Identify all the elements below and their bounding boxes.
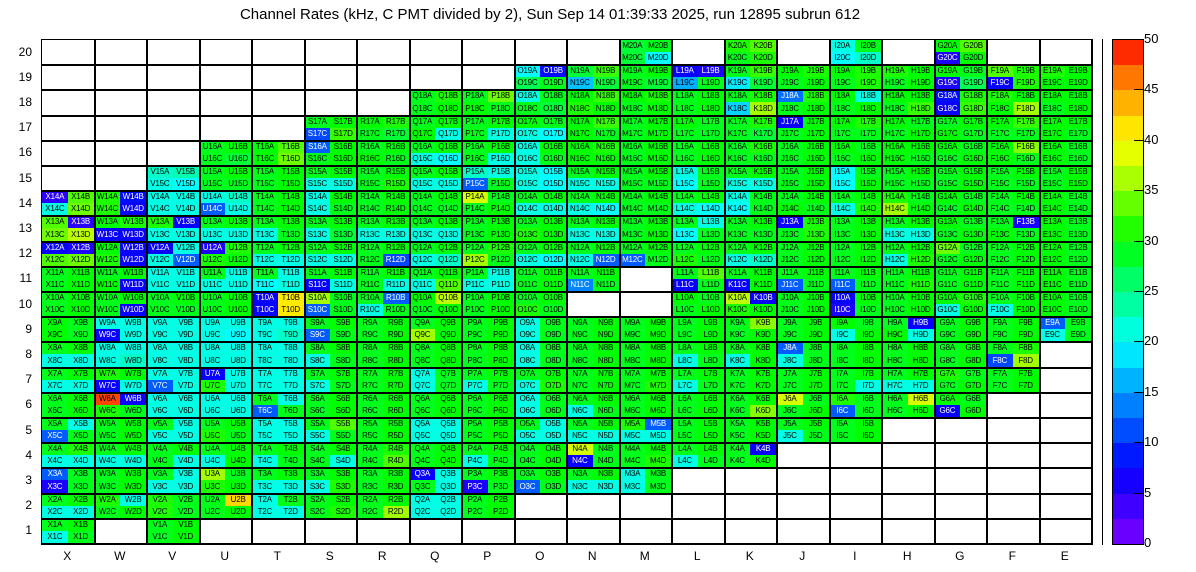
- channel-quadrant[interactable]: H14B: [908, 191, 934, 203]
- heatmap-cell[interactable]: I14AI14BI14CI14D: [830, 191, 883, 216]
- heatmap-cell[interactable]: V1AV1BV1CV1D: [147, 519, 200, 544]
- heatmap-cell[interactable]: I15AI15BI15CI15D: [830, 166, 883, 191]
- channel-quadrant[interactable]: H16B: [908, 141, 934, 153]
- channel-quadrant[interactable]: V12D: [173, 254, 199, 266]
- channel-quadrant[interactable]: H12A: [882, 242, 908, 254]
- channel-quadrant[interactable]: P14A: [462, 191, 488, 203]
- channel-quadrant[interactable]: Q15B: [435, 166, 461, 178]
- channel-quadrant[interactable]: P6C: [462, 405, 488, 417]
- heatmap-cell[interactable]: O5AO5BO5CO5D: [515, 418, 568, 443]
- heatmap-cell[interactable]: H6AH6BH6CH6D: [882, 393, 935, 418]
- channel-quadrant[interactable]: S12D: [330, 254, 356, 266]
- heatmap-cell[interactable]: M7AM7BM7CM7D: [620, 368, 673, 393]
- channel-quadrant[interactable]: U5A: [200, 418, 226, 430]
- channel-quadrant[interactable]: F8B: [1013, 342, 1039, 354]
- channel-quadrant[interactable]: X8D: [68, 354, 94, 366]
- heatmap-cell[interactable]: T10AT10BT10CT10D: [252, 292, 305, 317]
- channel-quadrant[interactable]: W3A: [95, 468, 121, 480]
- channel-quadrant[interactable]: R5B: [383, 418, 409, 430]
- heatmap-cell[interactable]: J19AJ19BJ19CJ19D: [777, 65, 830, 90]
- channel-quadrant[interactable]: I19A: [830, 65, 856, 77]
- channel-quadrant[interactable]: R15A: [357, 166, 383, 178]
- channel-quadrant[interactable]: U15D: [225, 178, 251, 190]
- heatmap-cell[interactable]: G13AG13BG13CG13D: [935, 216, 988, 241]
- heatmap-cell[interactable]: X8AX8BX8CX8D: [42, 342, 95, 367]
- channel-quadrant[interactable]: K10B: [750, 292, 776, 304]
- channel-quadrant[interactable]: U10D: [225, 304, 251, 316]
- channel-quadrant[interactable]: S3A: [305, 468, 331, 480]
- heatmap-cell[interactable]: E16AE16BE16CE16D: [1040, 141, 1093, 166]
- heatmap-cell[interactable]: Q5AQ5BQ5CQ5D: [410, 418, 463, 443]
- heatmap-cell[interactable]: F16AF16BF16CF16D: [987, 141, 1040, 166]
- channel-quadrant[interactable]: W14A: [95, 191, 121, 203]
- heatmap-cell[interactable]: X12AX12BX12CX12D: [42, 242, 95, 267]
- channel-quadrant[interactable]: U10B: [225, 292, 251, 304]
- channel-quadrant[interactable]: S2B: [330, 494, 356, 506]
- heatmap-cell[interactable]: O12AO12BO12CO12D: [515, 242, 568, 267]
- channel-quadrant[interactable]: R11D: [383, 279, 409, 291]
- channel-quadrant[interactable]: F19C: [987, 77, 1013, 89]
- channel-quadrant[interactable]: F8D: [1013, 354, 1039, 366]
- heatmap-cell[interactable]: J8AJ8BJ8CJ8D: [777, 342, 830, 367]
- channel-quadrant[interactable]: X1D: [68, 531, 94, 543]
- heatmap-cell[interactable]: U7AU7BU7CU7D: [200, 368, 253, 393]
- channel-quadrant[interactable]: T6B: [278, 393, 304, 405]
- heatmap-cell[interactable]: U4AU4BU4CU4D: [200, 443, 253, 468]
- channel-quadrant[interactable]: S5A: [305, 418, 331, 430]
- channel-quadrant[interactable]: H10B: [908, 292, 934, 304]
- channel-quadrant[interactable]: V4D: [173, 455, 199, 467]
- channel-quadrant[interactable]: I12B: [855, 242, 881, 254]
- channel-quadrant[interactable]: Q5B: [435, 418, 461, 430]
- channel-quadrant[interactable]: E9C: [1040, 329, 1066, 341]
- heatmap-cell[interactable]: Q3AQ3BQ3CQ3D: [410, 468, 463, 493]
- channel-quadrant[interactable]: P4B: [488, 443, 514, 455]
- channel-quadrant[interactable]: T6C: [252, 405, 278, 417]
- channel-quadrant[interactable]: I5A: [830, 418, 856, 430]
- channel-quadrant[interactable]: O16D: [540, 153, 566, 165]
- channel-quadrant[interactable]: L13C: [672, 228, 698, 240]
- channel-quadrant[interactable]: U10C: [200, 304, 226, 316]
- channel-quadrant[interactable]: W4C: [95, 455, 121, 467]
- channel-quadrant[interactable]: N4B: [593, 443, 619, 455]
- channel-quadrant[interactable]: J18C: [777, 102, 803, 114]
- channel-quadrant[interactable]: P11D: [488, 279, 514, 291]
- channel-quadrant[interactable]: T3A: [252, 468, 278, 480]
- channel-quadrant[interactable]: V13A: [147, 216, 173, 228]
- channel-quadrant[interactable]: M17C: [620, 128, 646, 140]
- channel-quadrant[interactable]: F10C: [987, 304, 1013, 316]
- channel-quadrant[interactable]: U7B: [225, 368, 251, 380]
- channel-quadrant[interactable]: Q17A: [410, 116, 436, 128]
- channel-quadrant[interactable]: T12B: [278, 242, 304, 254]
- channel-quadrant[interactable]: J19D: [803, 77, 829, 89]
- channel-quadrant[interactable]: R2B: [383, 494, 409, 506]
- channel-quadrant[interactable]: S11D: [330, 279, 356, 291]
- channel-quadrant[interactable]: M16B: [645, 141, 671, 153]
- channel-quadrant[interactable]: I19C: [830, 77, 856, 89]
- channel-quadrant[interactable]: U4C: [200, 455, 226, 467]
- channel-quadrant[interactable]: R16B: [383, 141, 409, 153]
- channel-quadrant[interactable]: N13A: [567, 216, 593, 228]
- channel-quadrant[interactable]: E16D: [1065, 153, 1091, 165]
- channel-quadrant[interactable]: W11C: [95, 279, 121, 291]
- heatmap-cell[interactable]: T5AT5BT5CT5D: [252, 418, 305, 443]
- channel-quadrant[interactable]: R10B: [383, 292, 409, 304]
- channel-quadrant[interactable]: W4D: [120, 455, 146, 467]
- heatmap-cell[interactable]: N16AN16BN16CN16D: [567, 141, 620, 166]
- channel-quadrant[interactable]: P10B: [488, 292, 514, 304]
- channel-quadrant[interactable]: T13D: [278, 228, 304, 240]
- channel-quadrant[interactable]: I11D: [855, 279, 881, 291]
- channel-quadrant[interactable]: W13A: [95, 216, 121, 228]
- channel-quadrant[interactable]: X1B: [68, 519, 94, 531]
- channel-quadrant[interactable]: L9A: [672, 317, 698, 329]
- channel-quadrant[interactable]: R3A: [357, 468, 383, 480]
- channel-quadrant[interactable]: U4A: [200, 443, 226, 455]
- channel-quadrant[interactable]: I5D: [855, 430, 881, 442]
- channel-quadrant[interactable]: G16A: [935, 141, 961, 153]
- heatmap-cell[interactable]: Q8AQ8BQ8CQ8D: [410, 342, 463, 367]
- channel-quadrant[interactable]: N4C: [567, 455, 593, 467]
- channel-quadrant[interactable]: U15C: [200, 178, 226, 190]
- channel-quadrant[interactable]: F17A: [987, 116, 1013, 128]
- heatmap-cell[interactable]: V2AV2BV2CV2D: [147, 494, 200, 519]
- heatmap-cell[interactable]: Q12AQ12BQ12CQ12D: [410, 242, 463, 267]
- channel-quadrant[interactable]: F10A: [987, 292, 1013, 304]
- heatmap-cell[interactable]: T7AT7BT7CT7D: [252, 368, 305, 393]
- channel-quadrant[interactable]: O18A: [515, 90, 541, 102]
- channel-quadrant[interactable]: L17A: [672, 116, 698, 128]
- channel-quadrant[interactable]: O12D: [540, 254, 566, 266]
- heatmap-cell[interactable]: G14AG14BG14CG14D: [935, 191, 988, 216]
- channel-quadrant[interactable]: L5C: [672, 430, 698, 442]
- heatmap-cell[interactable]: X6AX6BX6CX6D: [42, 393, 95, 418]
- channel-quadrant[interactable]: H18C: [882, 102, 908, 114]
- channel-quadrant[interactable]: X13D: [68, 228, 94, 240]
- channel-quadrant[interactable]: G12A: [935, 242, 961, 254]
- channel-quadrant[interactable]: U14B: [225, 191, 251, 203]
- channel-quadrant[interactable]: K5A: [725, 418, 751, 430]
- heatmap-cell[interactable]: W12AW12BW12CW12D: [95, 242, 148, 267]
- channel-quadrant[interactable]: N8A: [567, 342, 593, 354]
- channel-quadrant[interactable]: E18D: [1065, 102, 1091, 114]
- channel-quadrant[interactable]: M17A: [620, 116, 646, 128]
- channel-quadrant[interactable]: F13C: [987, 228, 1013, 240]
- channel-quadrant[interactable]: P8B: [488, 342, 514, 354]
- channel-quadrant[interactable]: N4A: [567, 443, 593, 455]
- channel-quadrant[interactable]: S10D: [330, 304, 356, 316]
- heatmap-cell[interactable]: J7AJ7BJ7CJ7D: [777, 368, 830, 393]
- channel-quadrant[interactable]: S3C: [305, 480, 331, 492]
- channel-quadrant[interactable]: W6B: [120, 393, 146, 405]
- channel-quadrant[interactable]: N4D: [593, 455, 619, 467]
- heatmap-cell[interactable]: K13AK13BK13CK13D: [725, 216, 778, 241]
- channel-quadrant[interactable]: H9B: [908, 317, 934, 329]
- channel-quadrant[interactable]: H17A: [882, 116, 908, 128]
- channel-quadrant[interactable]: T16C: [252, 153, 278, 165]
- channel-quadrant[interactable]: X12A: [42, 242, 68, 254]
- channel-quadrant[interactable]: P13A: [462, 216, 488, 228]
- channel-quadrant[interactable]: R4B: [383, 443, 409, 455]
- channel-quadrant[interactable]: W6A: [95, 393, 121, 405]
- channel-quadrant[interactable]: E19C: [1040, 77, 1066, 89]
- channel-quadrant[interactable]: L11C: [672, 279, 698, 291]
- channel-quadrant[interactable]: M7A: [620, 368, 646, 380]
- channel-quadrant[interactable]: L6D: [698, 405, 724, 417]
- channel-quadrant[interactable]: X3A: [42, 468, 68, 480]
- channel-quadrant[interactable]: K7D: [750, 380, 776, 392]
- channel-quadrant[interactable]: V10A: [147, 292, 173, 304]
- channel-quadrant[interactable]: X9D: [68, 329, 94, 341]
- channel-quadrant[interactable]: Q4A: [410, 443, 436, 455]
- channel-quadrant[interactable]: F7A: [987, 368, 1013, 380]
- channel-quadrant[interactable]: M13D: [645, 228, 671, 240]
- channel-quadrant[interactable]: L14B: [698, 191, 724, 203]
- heatmap-cell[interactable]: S15AS15BS15CS15D: [305, 166, 358, 191]
- channel-quadrant[interactable]: K10A: [725, 292, 751, 304]
- channel-quadrant[interactable]: I11C: [830, 279, 856, 291]
- channel-quadrant[interactable]: V11B: [173, 267, 199, 279]
- channel-quadrant[interactable]: T4A: [252, 443, 278, 455]
- heatmap-cell[interactable]: H14AH14BH14CH14D: [882, 191, 935, 216]
- channel-quadrant[interactable]: L19A: [672, 65, 698, 77]
- channel-quadrant[interactable]: L9C: [672, 329, 698, 341]
- heatmap-cell[interactable]: P16AP16BP16CP16D: [462, 141, 515, 166]
- heatmap-cell[interactable]: E18AE18BE18CE18D: [1040, 90, 1093, 115]
- channel-quadrant[interactable]: E13A: [1040, 216, 1066, 228]
- channel-quadrant[interactable]: J19B: [803, 65, 829, 77]
- channel-quadrant[interactable]: O11D: [540, 279, 566, 291]
- channel-quadrant[interactable]: V2C: [147, 506, 173, 518]
- channel-quadrant[interactable]: R17B: [383, 116, 409, 128]
- channel-quadrant[interactable]: F17D: [1013, 128, 1039, 140]
- channel-quadrant[interactable]: L10D: [698, 304, 724, 316]
- heatmap-cell[interactable]: I6AI6BI6CI6D: [830, 393, 883, 418]
- channel-quadrant[interactable]: G10D: [960, 304, 986, 316]
- channel-quadrant[interactable]: E11D: [1065, 279, 1091, 291]
- channel-quadrant[interactable]: L4D: [698, 455, 724, 467]
- channel-quadrant[interactable]: R16A: [357, 141, 383, 153]
- channel-quadrant[interactable]: T2C: [252, 506, 278, 518]
- channel-quadrant[interactable]: P14B: [488, 191, 514, 203]
- heatmap-cell[interactable]: K8AK8BK8CK8D: [725, 342, 778, 367]
- heatmap-cell[interactable]: R13AR13BR13CR13D: [357, 216, 410, 241]
- heatmap-cell[interactable]: I7AI7BI7CI7D: [830, 368, 883, 393]
- channel-quadrant[interactable]: W14C: [95, 203, 121, 215]
- channel-quadrant[interactable]: M4D: [645, 455, 671, 467]
- heatmap-cell[interactable]: M19AM19BM19CM19D: [620, 65, 673, 90]
- channel-quadrant[interactable]: M19B: [645, 65, 671, 77]
- channel-quadrant[interactable]: G17C: [935, 128, 961, 140]
- channel-quadrant[interactable]: H6D: [908, 405, 934, 417]
- heatmap-cell[interactable]: V5AV5BV5CV5D: [147, 418, 200, 443]
- channel-quadrant[interactable]: L5B: [698, 418, 724, 430]
- channel-quadrant[interactable]: Q4C: [410, 455, 436, 467]
- channel-quadrant[interactable]: Q13B: [435, 216, 461, 228]
- channel-quadrant[interactable]: X14C: [42, 203, 68, 215]
- channel-quadrant[interactable]: F13D: [1013, 228, 1039, 240]
- channel-quadrant[interactable]: Q12D: [435, 254, 461, 266]
- heatmap-cell[interactable]: H7AH7BH7CH7D: [882, 368, 935, 393]
- channel-quadrant[interactable]: F18C: [987, 102, 1013, 114]
- channel-quadrant[interactable]: P6B: [488, 393, 514, 405]
- channel-quadrant[interactable]: V7D: [173, 380, 199, 392]
- channel-quadrant[interactable]: S6C: [305, 405, 331, 417]
- heatmap-cell[interactable]: R9AR9BR9CR9D: [357, 317, 410, 342]
- channel-quadrant[interactable]: Q8C: [410, 354, 436, 366]
- channel-quadrant[interactable]: H12D: [908, 254, 934, 266]
- channel-quadrant[interactable]: N18C: [567, 102, 593, 114]
- channel-quadrant[interactable]: G8A: [935, 342, 961, 354]
- heatmap-cell[interactable]: S12AS12BS12CS12D: [305, 242, 358, 267]
- channel-quadrant[interactable]: U16A: [200, 141, 226, 153]
- channel-quadrant[interactable]: I10D: [855, 304, 881, 316]
- channel-quadrant[interactable]: M8C: [620, 354, 646, 366]
- channel-quadrant[interactable]: X7C: [42, 380, 68, 392]
- channel-quadrant[interactable]: V10B: [173, 292, 199, 304]
- channel-quadrant[interactable]: I14C: [830, 203, 856, 215]
- channel-quadrant[interactable]: E17C: [1040, 128, 1066, 140]
- channel-quadrant[interactable]: W14B: [120, 191, 146, 203]
- channel-quadrant[interactable]: R12A: [357, 242, 383, 254]
- channel-quadrant[interactable]: R10D: [383, 304, 409, 316]
- heatmap-cell[interactable]: W11AW11BW11CW11D: [95, 267, 148, 292]
- channel-quadrant[interactable]: U6A: [200, 393, 226, 405]
- channel-quadrant[interactable]: K9B: [750, 317, 776, 329]
- channel-quadrant[interactable]: I12A: [830, 242, 856, 254]
- channel-quadrant[interactable]: P16B: [488, 141, 514, 153]
- heatmap-cell[interactable]: N4AN4BN4CN4D: [567, 443, 620, 468]
- channel-quadrant[interactable]: X9B: [68, 317, 94, 329]
- channel-quadrant[interactable]: I14A: [830, 191, 856, 203]
- channel-quadrant[interactable]: M8A: [620, 342, 646, 354]
- channel-quadrant[interactable]: V3C: [147, 480, 173, 492]
- channel-quadrant[interactable]: F15B: [1013, 166, 1039, 178]
- channel-quadrant[interactable]: S13C: [305, 228, 331, 240]
- channel-quadrant[interactable]: R16D: [383, 153, 409, 165]
- channel-quadrant[interactable]: Q13D: [435, 228, 461, 240]
- channel-quadrant[interactable]: I7B: [855, 368, 881, 380]
- heatmap-cell[interactable]: Q9AQ9BQ9CQ9D: [410, 317, 463, 342]
- channel-quadrant[interactable]: J12C: [777, 254, 803, 266]
- channel-quadrant[interactable]: N14B: [593, 191, 619, 203]
- channel-quadrant[interactable]: F13A: [987, 216, 1013, 228]
- channel-quadrant[interactable]: O11C: [515, 279, 541, 291]
- channel-quadrant[interactable]: G9D: [960, 329, 986, 341]
- heatmap-cell[interactable]: M15AM15BM15CM15D: [620, 166, 673, 191]
- channel-quadrant[interactable]: X2B: [68, 494, 94, 506]
- heatmap-cell[interactable]: T3AT3BT3CT3D: [252, 468, 305, 493]
- channel-quadrant[interactable]: O16A: [515, 141, 541, 153]
- channel-quadrant[interactable]: N15A: [567, 166, 593, 178]
- channel-quadrant[interactable]: J14B: [803, 191, 829, 203]
- heatmap-cell[interactable]: V11AV11BV11CV11D: [147, 267, 200, 292]
- heatmap-cell[interactable]: S8AS8BS8CS8D: [305, 342, 358, 367]
- channel-quadrant[interactable]: J15B: [803, 166, 829, 178]
- channel-quadrant[interactable]: E16C: [1040, 153, 1066, 165]
- channel-quadrant[interactable]: X3C: [42, 480, 68, 492]
- channel-quadrant[interactable]: I13C: [830, 228, 856, 240]
- channel-quadrant[interactable]: K6A: [725, 393, 751, 405]
- channel-quadrant[interactable]: N5D: [593, 430, 619, 442]
- channel-quadrant[interactable]: O17D: [540, 128, 566, 140]
- channel-quadrant[interactable]: W11A: [95, 267, 121, 279]
- heatmap-cell[interactable]: K14AK14BK14CK14D: [725, 191, 778, 216]
- channel-quadrant[interactable]: T13C: [252, 228, 278, 240]
- heatmap-cell[interactable]: O4AO4BO4CO4D: [515, 443, 568, 468]
- channel-quadrant[interactable]: F19D: [1013, 77, 1039, 89]
- channel-quadrant[interactable]: S7A: [305, 368, 331, 380]
- channel-quadrant[interactable]: S7D: [330, 380, 356, 392]
- channel-quadrant[interactable]: T14A: [252, 191, 278, 203]
- channel-quadrant[interactable]: V8B: [173, 342, 199, 354]
- heatmap-cell[interactable]: G6AG6BG6CG6D: [935, 393, 988, 418]
- channel-quadrant[interactable]: O7D: [540, 380, 566, 392]
- channel-quadrant[interactable]: K8D: [750, 354, 776, 366]
- channel-quadrant[interactable]: N3D: [593, 480, 619, 492]
- channel-quadrant[interactable]: W4B: [120, 443, 146, 455]
- channel-quadrant[interactable]: G7C: [935, 380, 961, 392]
- channel-quadrant[interactable]: Q6D: [435, 405, 461, 417]
- channel-quadrant[interactable]: H13C: [882, 228, 908, 240]
- channel-quadrant[interactable]: H7C: [882, 380, 908, 392]
- heatmap-cell[interactable]: L4AL4BL4CL4D: [672, 443, 725, 468]
- channel-quadrant[interactable]: L16B: [698, 141, 724, 153]
- heatmap-cell[interactable]: V14AV14BV14CV14D: [147, 191, 200, 216]
- heatmap-cell[interactable]: P8AP8BP8CP8D: [462, 342, 515, 367]
- channel-quadrant[interactable]: R9B: [383, 317, 409, 329]
- channel-quadrant[interactable]: X3B: [68, 468, 94, 480]
- channel-quadrant[interactable]: V2B: [173, 494, 199, 506]
- channel-quadrant[interactable]: F7B: [1013, 368, 1039, 380]
- channel-quadrant[interactable]: R7B: [383, 368, 409, 380]
- channel-quadrant[interactable]: O12A: [515, 242, 541, 254]
- channel-quadrant[interactable]: M20D: [645, 52, 671, 64]
- channel-quadrant[interactable]: R6B: [383, 393, 409, 405]
- channel-quadrant[interactable]: W7D: [120, 380, 146, 392]
- channel-quadrant[interactable]: G16B: [960, 141, 986, 153]
- channel-quadrant[interactable]: F11C: [987, 279, 1013, 291]
- channel-quadrant[interactable]: P5D: [488, 430, 514, 442]
- channel-quadrant[interactable]: T12D: [278, 254, 304, 266]
- heatmap-cell[interactable]: T16AT16BT16CT16D: [252, 141, 305, 166]
- channel-quadrant[interactable]: K18B: [750, 90, 776, 102]
- channel-quadrant[interactable]: V14D: [173, 203, 199, 215]
- heatmap-cell[interactable]: U9AU9BU9CU9D: [200, 317, 253, 342]
- channel-quadrant[interactable]: R8C: [357, 354, 383, 366]
- channel-quadrant[interactable]: J12A: [777, 242, 803, 254]
- channel-quadrant[interactable]: Q11C: [410, 279, 436, 291]
- channel-quadrant[interactable]: F9C: [987, 329, 1013, 341]
- channel-quadrant[interactable]: M9A: [620, 317, 646, 329]
- heatmap-cell[interactable]: H12AH12BH12CH12D: [882, 242, 935, 267]
- channel-quadrant[interactable]: T16D: [278, 153, 304, 165]
- channel-quadrant[interactable]: G14A: [935, 191, 961, 203]
- channel-quadrant[interactable]: T2D: [278, 506, 304, 518]
- channel-quadrant[interactable]: H9C: [882, 329, 908, 341]
- channel-quadrant[interactable]: N9D: [593, 329, 619, 341]
- channel-quadrant[interactable]: L19C: [672, 77, 698, 89]
- heatmap-cell[interactable]: O19AO19BO19CO19D: [515, 65, 568, 90]
- heatmap-cell[interactable]: W10AW10BW10CW10D: [95, 292, 148, 317]
- channel-quadrant[interactable]: M7D: [645, 380, 671, 392]
- channel-quadrant[interactable]: X7B: [68, 368, 94, 380]
- channel-quadrant[interactable]: T6D: [278, 405, 304, 417]
- heatmap-cell[interactable]: V8AV8BV8CV8D: [147, 342, 200, 367]
- channel-quadrant[interactable]: K14C: [725, 203, 751, 215]
- channel-quadrant[interactable]: P11A: [462, 267, 488, 279]
